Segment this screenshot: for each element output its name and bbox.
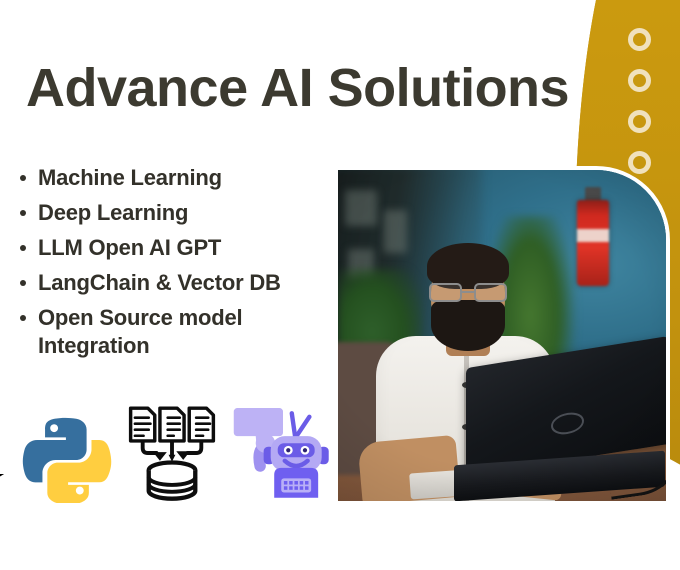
list-item: LangChain & Vector DB: [16, 269, 346, 297]
ring-icon-3: [628, 110, 651, 133]
list-item: Open Source model Integration: [16, 304, 346, 360]
list-item: Machine Learning: [16, 164, 346, 192]
chatbot-robot-icon: [230, 401, 336, 508]
feature-list: Machine Learning Deep Learning LLM Open …: [16, 164, 346, 367]
documents-to-database-icon: [120, 403, 224, 508]
technology-icon-row: [18, 403, 338, 508]
presenter-photo: [334, 166, 670, 505]
list-item: Deep Learning: [16, 199, 346, 227]
ring-icon-2: [628, 69, 651, 92]
banner-canvas: Advance AI Solutions Machine Learning De…: [0, 0, 680, 570]
photo-vignette: [338, 170, 666, 501]
presenter-photo-image: [338, 170, 666, 501]
page-title: Advance AI Solutions: [26, 60, 616, 117]
list-item: LLM Open AI GPT: [16, 234, 346, 262]
ring-icon-1: [628, 28, 651, 51]
python-logo-icon: [18, 407, 114, 508]
